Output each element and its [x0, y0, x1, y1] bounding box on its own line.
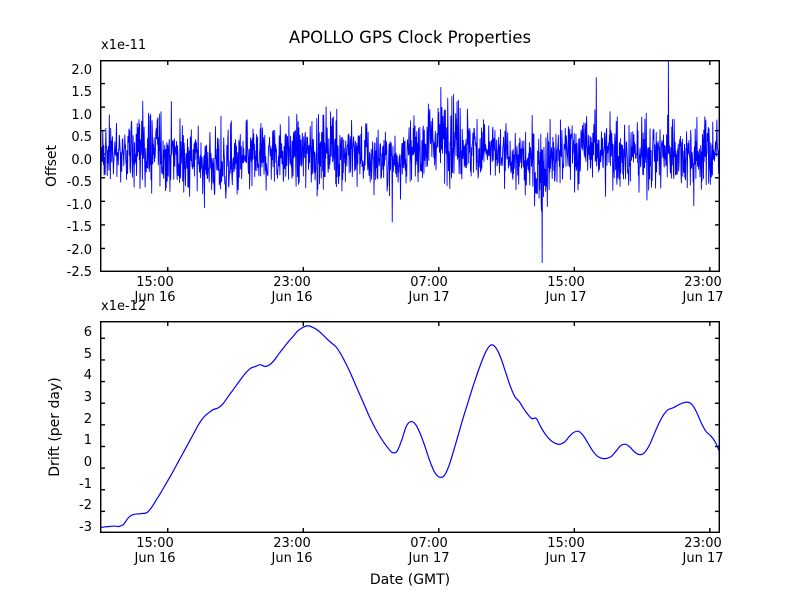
- offset-ytick-1.0: 1.0: [42, 108, 92, 123]
- drift-ytick--3: -3: [52, 520, 92, 535]
- drift-ytick-5: 5: [52, 347, 92, 362]
- offset-ytick--1.0: -1.0: [42, 198, 92, 213]
- drift-x-axis-label: Date (GMT): [300, 572, 520, 588]
- offset-plot-area: [100, 60, 720, 272]
- drift-ytick-2: 2: [52, 412, 92, 427]
- drift-ytick-3: 3: [52, 390, 92, 405]
- drift-ytick--1: -1: [52, 477, 92, 492]
- drift-ytick-4: 4: [52, 368, 92, 383]
- matplotlib-figure: APOLLO GPS Clock Properties x1e-11 Offse…: [0, 0, 800, 600]
- offset-ytick-0.0: 0.0: [42, 153, 92, 168]
- drift-xtick-4: 23:00 Jun 17: [653, 537, 753, 566]
- offset-ytick-2.0: 2.0: [42, 63, 92, 78]
- offset-xtick-4: 23:00 Jun 17: [653, 276, 753, 305]
- offset-y-exponent-label: x1e-11: [101, 38, 146, 53]
- offset-xtick-1: 23:00 Jun 16: [242, 276, 342, 305]
- drift-y-exponent-label: x1e-12: [101, 299, 146, 314]
- offset-ytick--0.5: -0.5: [42, 175, 92, 190]
- drift-ytick--2: -2: [52, 498, 92, 513]
- offset-xtick-2: 07:00 Jun 17: [379, 276, 479, 305]
- drift-plot-area: [100, 321, 720, 533]
- drift-ytick-1: 1: [52, 433, 92, 448]
- offset-xtick-3: 15:00 Jun 17: [516, 276, 616, 305]
- offset-ytick--2.5: -2.5: [42, 265, 92, 280]
- drift-ytick-0: 0: [52, 455, 92, 470]
- drift-ytick-6: 6: [52, 325, 92, 340]
- offset-ytick-0.5: 0.5: [42, 130, 92, 145]
- drift-xtick-2: 07:00 Jun 17: [379, 537, 479, 566]
- drift-xtick-0: 15:00 Jun 16: [105, 537, 205, 566]
- drift-xtick-3: 15:00 Jun 17: [516, 537, 616, 566]
- offset-ytick-1.5: 1.5: [42, 85, 92, 100]
- offset-ytick--1.5: -1.5: [42, 220, 92, 235]
- drift-xtick-1: 23:00 Jun 16: [242, 537, 342, 566]
- offset-ytick--2.0: -2.0: [42, 243, 92, 258]
- page-title: APOLLO GPS Clock Properties: [100, 28, 720, 47]
